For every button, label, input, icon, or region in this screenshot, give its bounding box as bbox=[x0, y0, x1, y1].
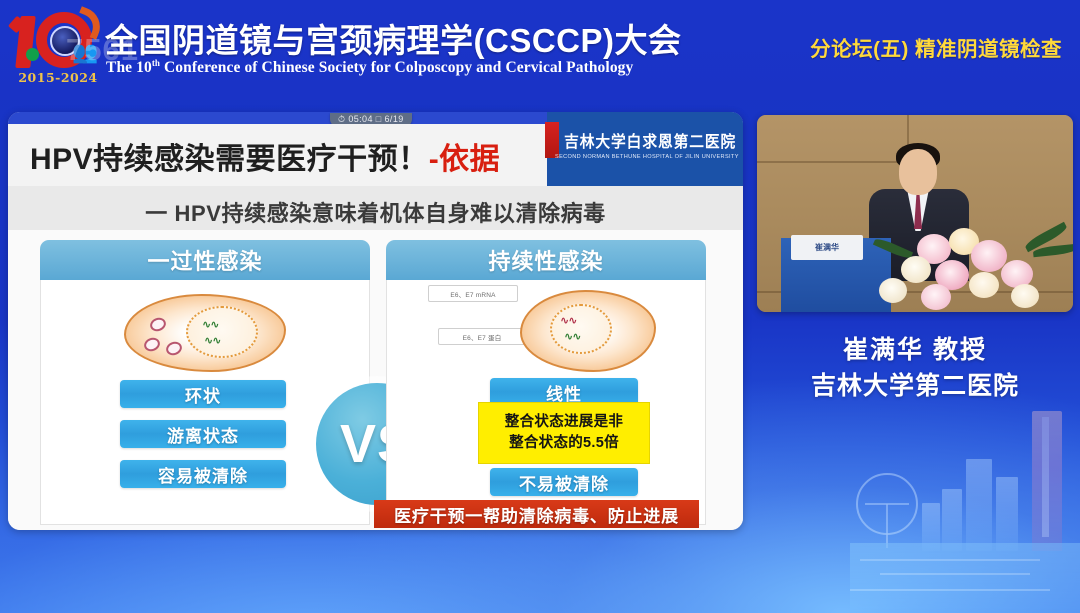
column-header-persistent: 持续性感染 bbox=[386, 240, 706, 280]
highlight-integration-box: 整合状态进展是非 整合状态的5.5倍 bbox=[478, 402, 650, 464]
minilabel-e6e7-mrna: E6、E7 mRNA bbox=[428, 285, 518, 302]
hospital-name-cn: 吉林大学白求恩第二医院 bbox=[564, 128, 728, 152]
persistent-infection-cell-icon: ∿∿ ∿∿ bbox=[520, 290, 656, 372]
highlight-line-1: 整合状态的5.5倍 bbox=[509, 433, 619, 454]
speaker-head bbox=[899, 149, 937, 195]
title-en-post: Conference of Chinese Society for Colpos… bbox=[160, 59, 633, 76]
speaker-organization: 吉林大学第二医院 bbox=[757, 366, 1073, 402]
conference-title-cn: 全国阴道镜与宫颈病理学(CSCCP)大会 bbox=[105, 14, 682, 62]
slide-subtitle: 一 HPV持续感染意味着机体自身难以清除病毒 bbox=[8, 196, 743, 228]
slide-title-accent: -依据 bbox=[429, 143, 501, 176]
flower-bouquet bbox=[865, 226, 1055, 312]
pill-transient-0: 环状 bbox=[120, 380, 286, 408]
slide-title-main: HPV持续感染需要医疗干预！ bbox=[30, 143, 429, 176]
presentation-slide: ⏱ 05:04 □ 6/19 HPV持续感染需要医疗干预！-依据 吉林大学白求恩… bbox=[8, 112, 743, 530]
conclusion-banner: 医疗干预一帮助清除病毒、防止进展 bbox=[374, 500, 699, 528]
logo-years: 2015-2024 bbox=[14, 70, 102, 85]
minilabel-e6e7-protein: E6、E7 蛋白 bbox=[438, 328, 526, 345]
slide-title: HPV持续感染需要医疗干预！-依据 bbox=[30, 134, 500, 178]
slide-body: 一过性感染 ∿∿ ∿∿ 环状 游离状态 容易被清除 VS 持续性感染 E6、E7… bbox=[8, 230, 743, 530]
conference-title-en: The 10th Conference of Chinese Society f… bbox=[106, 58, 633, 77]
hospital-name-en: SECOND NORMAN BETHUNE HOSPITAL OF JILIN … bbox=[555, 154, 737, 160]
speaker-video-panel[interactable]: 崔满华 bbox=[757, 115, 1073, 312]
highlight-line-0: 整合状态进展是非 bbox=[505, 412, 623, 433]
transient-infection-cell-icon: ∿∿ ∿∿ bbox=[124, 294, 286, 372]
tower-icon bbox=[1032, 411, 1062, 551]
slide-time: 05:04 bbox=[348, 114, 373, 124]
ferris-wheel-icon bbox=[856, 473, 918, 535]
forum-label: 分论坛(五) 精准阴道镜检查 bbox=[810, 32, 1062, 62]
page-background: 👥 2015-2024 7561 全国阴道镜与宫颈病理学(CSCCP)大会 Th… bbox=[0, 0, 1080, 613]
conference-header: 👥 2015-2024 7561 全国阴道镜与宫颈病理学(CSCCP)大会 Th… bbox=[0, 0, 1080, 100]
hospital-mark-icon bbox=[545, 122, 559, 158]
clock-icon: ⏱ bbox=[338, 114, 345, 124]
slide-page-separator: □ bbox=[376, 114, 385, 124]
river-reflection bbox=[850, 543, 1080, 613]
column-header-transient: 一过性感染 bbox=[40, 240, 370, 280]
speaker-name: 崔满华 教授 bbox=[757, 330, 1073, 366]
pill-transient-2: 容易被清除 bbox=[120, 460, 286, 488]
slide-page: 6/19 bbox=[385, 114, 404, 124]
hospital-logo: 吉林大学白求恩第二医院 SECOND NORMAN BETHUNE HOSPIT… bbox=[547, 112, 743, 186]
pill-persistent-1: 不易被清除 bbox=[490, 468, 638, 496]
pill-transient-1: 游离状态 bbox=[120, 420, 286, 448]
title-en-pre: The 10 bbox=[106, 59, 152, 76]
title-en-sup: th bbox=[152, 58, 160, 68]
city-skyline-background bbox=[850, 398, 1080, 613]
podium-nameplate: 崔满华 bbox=[791, 235, 863, 260]
